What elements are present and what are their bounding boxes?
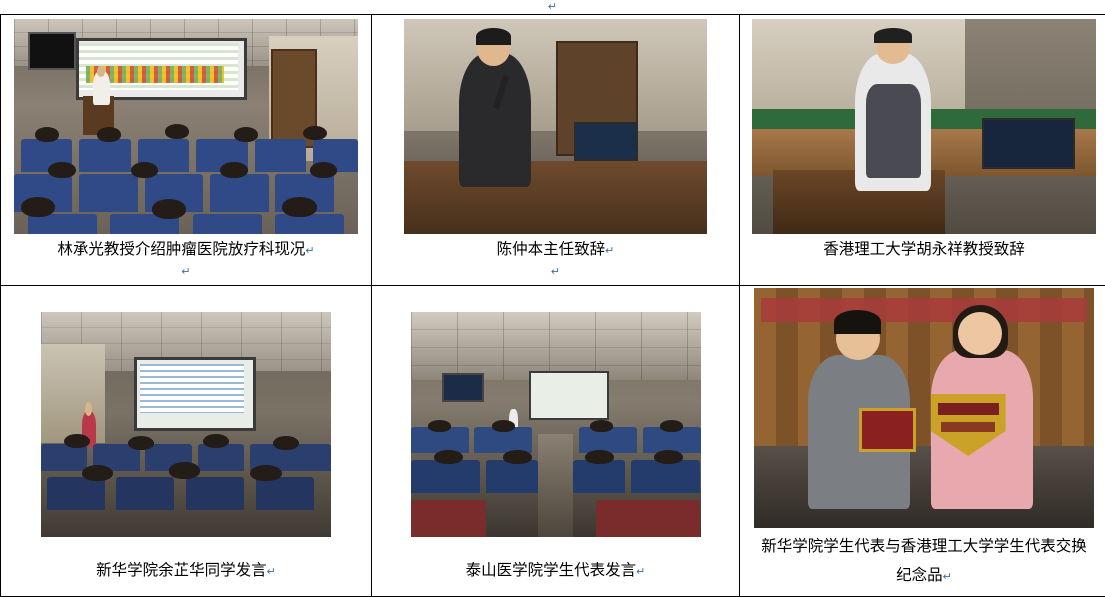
caption-text: 林承光教授介绍肿瘤医院放疗科现况 bbox=[57, 241, 305, 258]
photo-director-chen-speech bbox=[404, 19, 707, 234]
photo-taishan-medical-student-rep bbox=[411, 312, 701, 537]
photo-gift-exchange-students bbox=[754, 288, 1094, 528]
paragraph-mark: ↵ bbox=[943, 571, 952, 583]
cell-2-trailing-mark: ↵ bbox=[551, 265, 560, 279]
photo-grid-table: 林承光教授介绍肿瘤医院放疗科现况↵ ↵ bbox=[0, 14, 1105, 597]
caption-text: 新华学院余芷华同学发言 bbox=[96, 562, 267, 579]
award-plaque bbox=[859, 408, 916, 452]
paragraph-mark: ↵ bbox=[636, 566, 645, 578]
grid-cell-5: 泰山医学院学生代表发言↵ bbox=[372, 286, 740, 597]
caption-cell-6: 新华学院学生代表与香港理工大学学生代表交换 纪念品↵ bbox=[755, 528, 1093, 593]
grid-cell-3: 香港理工大学胡永祥教授致辞 bbox=[740, 15, 1105, 286]
table-row: 林承光教授介绍肿瘤医院放疗科现况↵ ↵ bbox=[1, 15, 1105, 286]
paragraph-mark: ↵ bbox=[267, 566, 276, 578]
photo-lecture-hall-professor-lin bbox=[14, 19, 358, 234]
photo-professor-hu-polyu-speech bbox=[752, 19, 1096, 234]
caption-text: 香港理工大学胡永祥教授致辞 bbox=[823, 241, 1025, 258]
caption-line-2: 纪念品↵ bbox=[761, 561, 1087, 590]
caption-cell-3: 香港理工大学胡永祥教授致辞 bbox=[817, 234, 1031, 265]
paragraph-mark: ↵ bbox=[605, 245, 614, 257]
paragraph-mark: ↵ bbox=[305, 245, 314, 257]
caption-cell-5: 泰山医学院学生代表发言↵ bbox=[460, 555, 652, 586]
table-row: 新华学院余芷华同学发言↵ bbox=[1, 286, 1105, 597]
top-paragraph-mark: ↵ bbox=[0, 0, 1105, 14]
grid-cell-6: 新华学院学生代表与香港理工大学学生代表交换 纪念品↵ bbox=[740, 286, 1105, 597]
caption-line-1: 新华学院学生代表与香港理工大学学生代表交换 bbox=[761, 532, 1087, 561]
caption-text: 泰山医学院学生代表发言 bbox=[466, 562, 637, 579]
caption-cell-4: 新华学院余芷华同学发言↵ bbox=[90, 555, 282, 586]
grid-cell-4: 新华学院余芷华同学发言↵ bbox=[1, 286, 372, 597]
caption-text: 陈仲本主任致辞 bbox=[497, 241, 606, 258]
grid-cell-1: 林承光教授介绍肿瘤医院放疗科现况↵ ↵ bbox=[1, 15, 372, 286]
grid-cell-2: 陈仲本主任致辞↵ ↵ bbox=[372, 15, 740, 286]
cell-1-trailing-mark: ↵ bbox=[181, 265, 190, 279]
caption-cell-1: 林承光教授介绍肿瘤医院放疗科现况↵ bbox=[51, 234, 320, 265]
photo-xinhua-student-yu-zhihua bbox=[41, 312, 331, 537]
document-page: ↵ bbox=[0, 0, 1105, 597]
caption-cell-2: 陈仲本主任致辞↵ bbox=[491, 234, 621, 265]
audience-seating bbox=[14, 109, 358, 234]
